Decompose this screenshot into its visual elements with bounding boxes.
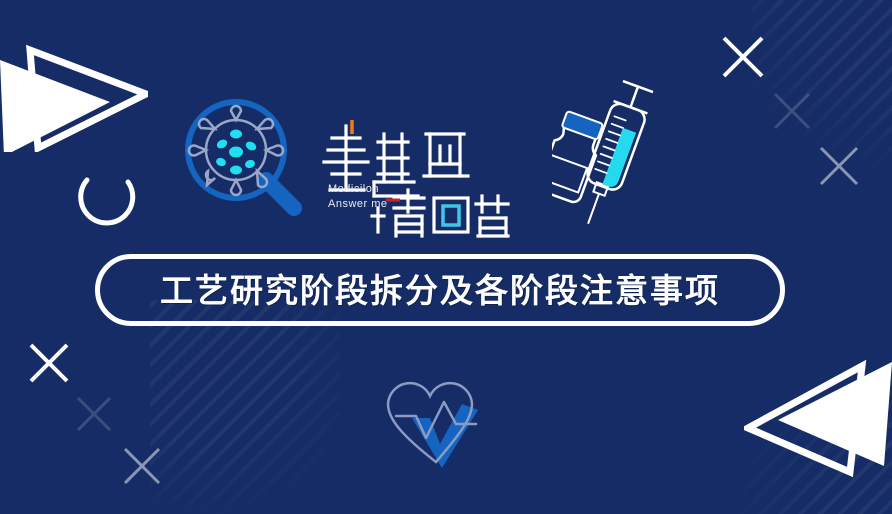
- arc-open-circle-icon: [62, 160, 162, 240]
- diagonal-stripes-top-right: [752, 0, 892, 180]
- promo-banner: Medicilon Answer me 工艺研究阶段拆分及各阶段注意事项: [0, 0, 892, 514]
- diagonal-stripes-behind-title: [150, 300, 340, 514]
- brand-logo: Medicilon Answer me: [322, 112, 522, 238]
- cross-mark-icon: [118, 442, 166, 490]
- syringe-icon: [571, 80, 655, 230]
- magnifier-virus-icon: [178, 92, 304, 218]
- double-triangle-right-icon: [0, 22, 148, 152]
- logo-english-line-2: Answer me: [328, 197, 388, 212]
- page-title: 工艺研究阶段拆分及各阶段注意事项: [160, 274, 720, 307]
- cross-mark-icon: [769, 88, 815, 134]
- cross-mark-icon: [716, 30, 770, 84]
- logo-english-text: Medicilon Answer me: [328, 182, 388, 212]
- cross-mark-icon: [24, 338, 74, 388]
- title-pill-container: 工艺研究阶段拆分及各阶段注意事项: [95, 254, 785, 326]
- diagonal-stripes-bottom-right: [732, 384, 892, 514]
- vaccine-vial-icon: [552, 110, 607, 204]
- cross-mark-icon: [72, 392, 116, 436]
- syringe-vial-icon-group: [552, 78, 672, 240]
- logo-chinese-mark: [322, 112, 522, 238]
- logo-english-line-1: Medicilon: [328, 182, 388, 197]
- logo-cyan-accent: [443, 206, 459, 225]
- heart-pulse-icon: [382, 372, 490, 470]
- cross-mark-icon: [814, 141, 864, 191]
- double-triangle-left-icon: [744, 354, 892, 486]
